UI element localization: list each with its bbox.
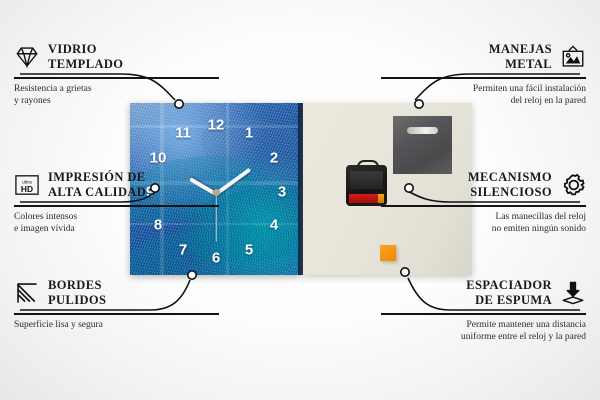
callout-desc-line1: Las manecillas del reloj — [381, 211, 586, 223]
callout-desc-line1: Colores intensos — [14, 211, 219, 223]
callout-title-line2: SILENCIOSO — [468, 185, 552, 200]
foam-spacer — [380, 245, 396, 261]
callout-bordes-pulidos: BORDES PULIDOS Superficie lisa y segura — [14, 278, 219, 331]
callout-impresion-alta-calidad: ultra HD IMPRESIÓN DE ALTA CALIDAD Color… — [14, 170, 219, 235]
callout-rule — [14, 77, 219, 79]
callout-title-line2: TEMPLADO — [48, 57, 123, 72]
callout-title-line2: DE ESPUMA — [466, 293, 552, 308]
callout-title-line1: IMPRESIÓN DE — [48, 170, 146, 185]
clock-numeral-4: 4 — [270, 218, 278, 233]
callout-title-line2: ALTA CALIDAD — [48, 185, 146, 200]
callout-title-line1: VIDRIO — [48, 42, 123, 57]
clock-numeral-3: 3 — [278, 185, 286, 200]
clock-numeral-5: 5 — [245, 243, 253, 258]
picture-hanging-icon — [560, 44, 586, 70]
callout-title-line2: METAL — [489, 57, 552, 72]
callout-desc-line1: Resistencia a grietas — [14, 83, 219, 95]
callout-desc-line2: y rayones — [14, 95, 219, 107]
callout-desc-line1: Superficie lisa y segura — [14, 319, 219, 331]
callout-desc-line1: Permiten una fácil instalación — [381, 83, 586, 95]
callout-title-line1: BORDES — [48, 278, 106, 293]
infographic-canvas: 12 1 2 3 4 5 6 7 8 9 10 11 — [0, 0, 600, 400]
callout-desc-line1: Permite mantener una distancia — [381, 319, 586, 331]
callout-rule — [14, 205, 219, 207]
callout-title-line2: PULIDOS — [48, 293, 106, 308]
callout-desc-line2: del reloj en la pared — [381, 95, 586, 107]
mechanism-body — [350, 171, 383, 189]
clock-minute-hand — [215, 168, 251, 196]
clock-numeral-6: 6 — [212, 251, 220, 266]
callout-desc-line2: e imagen vívida — [14, 223, 219, 235]
metal-hanger-plate — [393, 116, 452, 174]
callout-espaciador-de-espuma: ESPACIADOR DE ESPUMA Permite mantener un… — [381, 278, 586, 343]
clock-numeral-7: 7 — [179, 243, 187, 258]
clock-numeral-10: 10 — [150, 151, 167, 166]
clock-numeral-11: 11 — [175, 126, 191, 141]
clock-numeral-1: 1 — [245, 126, 253, 141]
callout-mecanismo-silencioso: MECANISMO SILENCIOSO Las manecillas del … — [381, 170, 586, 235]
clock-numeral-12: 12 — [208, 118, 225, 133]
callout-rule — [381, 205, 586, 207]
callout-desc-line2: uniforme entre el reloj y la pared — [381, 331, 586, 343]
down-arrow-layer-icon — [560, 280, 586, 306]
callout-vidrio-templado: VIDRIO TEMPLADO Resistencia a grietas y … — [14, 42, 219, 107]
hanger-keyhole-slot — [407, 127, 438, 134]
clock-numeral-2: 2 — [270, 151, 278, 166]
polished-edges-icon — [14, 280, 40, 306]
gear-icon — [560, 172, 586, 198]
ultra-hd-icon: ultra HD — [14, 172, 40, 198]
callout-title-line1: MANEJAS — [489, 42, 552, 57]
callout-title-line1: MECANISMO — [468, 170, 552, 185]
callout-title-line1: ESPACIADOR — [466, 278, 552, 293]
callout-rule — [381, 313, 586, 315]
callout-rule — [381, 77, 586, 79]
mechanism-hanging-loop — [357, 160, 379, 171]
svg-text:HD: HD — [21, 184, 33, 194]
callout-rule — [14, 313, 219, 315]
callout-desc-line2: no emiten ningún sonido — [381, 223, 586, 235]
diamond-icon — [14, 44, 40, 70]
callout-manejas-metal: MANEJAS METAL Permiten una fácil instala… — [381, 42, 586, 107]
